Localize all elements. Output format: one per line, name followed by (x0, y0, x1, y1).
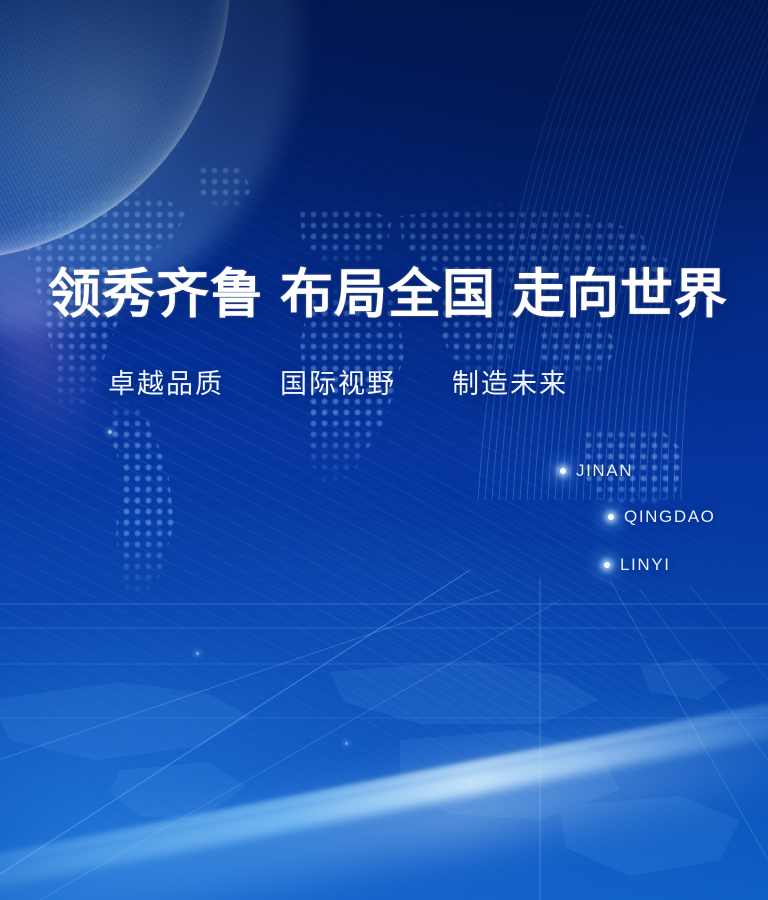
globe-rim-light (0, 0, 230, 260)
globe-graphic (0, 0, 768, 900)
perspective-grid-decoration (0, 0, 768, 900)
globe-lens-flare (0, 167, 139, 494)
city-marker-linyi[interactable]: LINYI (604, 555, 671, 575)
headline-segment-3: 走向世界 (512, 263, 728, 325)
city-marker-qingdao[interactable]: QINGDAO (608, 507, 716, 527)
diagonal-streaks-decoration (0, 0, 768, 900)
halftone-world-map (0, 0, 768, 900)
subtitle-segment-1: 卓越品质 (108, 369, 224, 400)
light-beam-glow (0, 677, 768, 900)
page-subtitle: 卓越品质国际视野制造未来 (108, 371, 568, 398)
diagonal-streaks-secondary (0, 0, 768, 900)
vignette-overlay (0, 0, 768, 900)
headline-segment-2: 布局全国 (280, 263, 496, 325)
globe-body (0, 0, 230, 260)
city-label: QINGDAO (624, 507, 716, 527)
sparkle-group (0, 0, 768, 900)
sparkle-dot (196, 652, 199, 655)
location-dot-icon (560, 468, 566, 474)
location-dot-icon (604, 562, 610, 568)
city-marker-jinan[interactable]: JINAN (560, 461, 633, 481)
background-gradient (0, 0, 768, 900)
subtitle-segment-2: 国际视野 (280, 369, 396, 400)
sparkle-dot (108, 430, 112, 434)
light-beam-core (0, 666, 768, 886)
city-label: JINAN (576, 461, 633, 481)
location-dot-icon (608, 514, 614, 520)
concentric-arcs-decoration (0, 0, 768, 900)
light-beam-group (0, 0, 768, 900)
page-title: 领秀齐鲁布局全国走向世界 (48, 268, 728, 321)
subtitle-segment-3: 制造未来 (452, 369, 568, 400)
city-label: LINYI (620, 555, 671, 575)
hero-banner: 领秀齐鲁布局全国走向世界 卓越品质国际视野制造未来 JINAN QINGDAO … (0, 0, 768, 900)
headline-segment-1: 领秀齐鲁 (48, 263, 264, 325)
globe-texture (0, 0, 230, 260)
sparkle-dot (345, 742, 348, 745)
floor-continents-decoration (0, 0, 768, 900)
light-beam (0, 674, 768, 900)
